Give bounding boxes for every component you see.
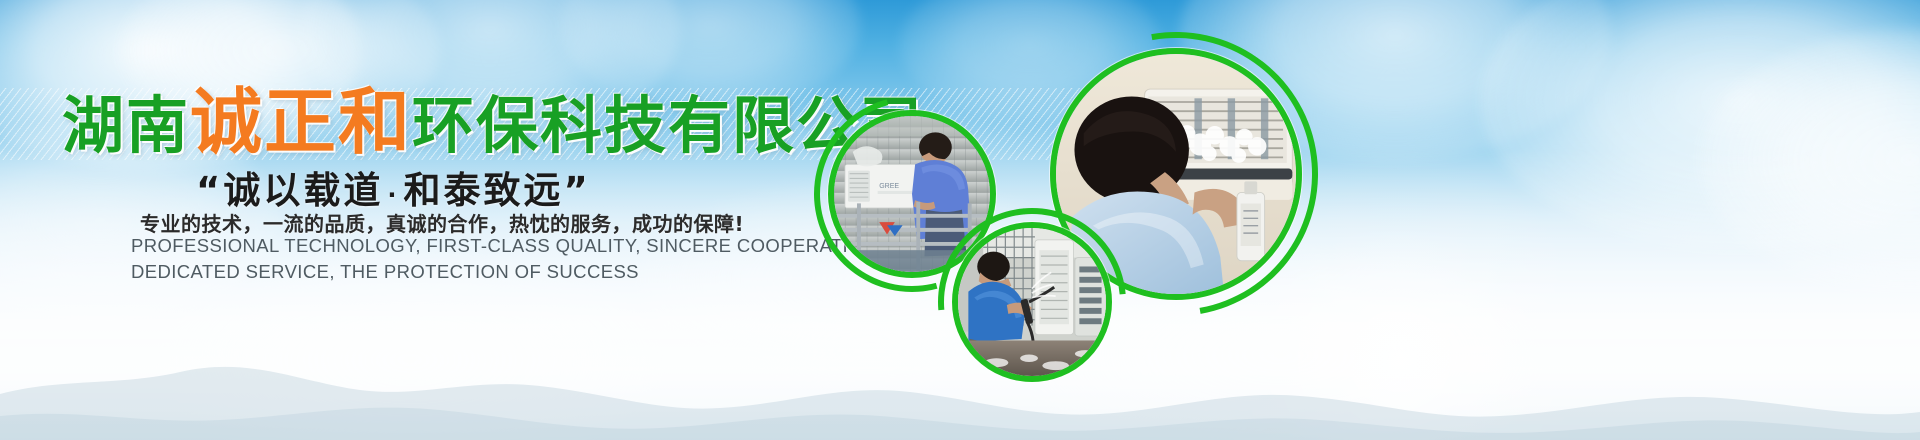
cloud-shape (1700, 30, 1920, 290)
company-name: 湖南诚正和环保科技有限公司 (62, 86, 924, 158)
outdoor-install-illustration: GREE (834, 116, 990, 272)
slogan-left: “诚以载道 (196, 169, 383, 212)
company-name-part-1: 湖南 (62, 89, 190, 162)
svg-text:GREE: GREE (879, 183, 899, 190)
company-banner: 湖南诚正和环保科技有限公司 “诚以载道·和泰致远” 专业的技术，一流的品质，真诚… (0, 0, 1920, 440)
photo-unit-washing (952, 222, 1112, 382)
english-tagline-line-1: PROFESSIONAL TECHNOLOGY, FIRST-CLASS QUA… (131, 233, 882, 259)
unit-washing-illustration (958, 228, 1106, 376)
photo-cluster: GREE (800, 0, 1440, 440)
company-slogan: “诚以载道·和泰致远” (196, 160, 591, 214)
banner-text-block: 湖南诚正和环保科技有限公司 “诚以载道·和泰致远” 专业的技术，一流的品质，真诚… (0, 0, 830, 440)
cloud-shape (1480, 0, 1920, 250)
slogan-right: 和泰致远” (403, 169, 590, 212)
english-tagline-line-2: DEDICATED SERVICE, THE PROTECTION OF SUC… (131, 259, 882, 285)
company-name-part-2: 诚正和 (190, 79, 412, 164)
english-tagline: PROFESSIONAL TECHNOLOGY, FIRST-CLASS QUA… (131, 233, 882, 285)
slogan-separator: · (383, 181, 403, 209)
